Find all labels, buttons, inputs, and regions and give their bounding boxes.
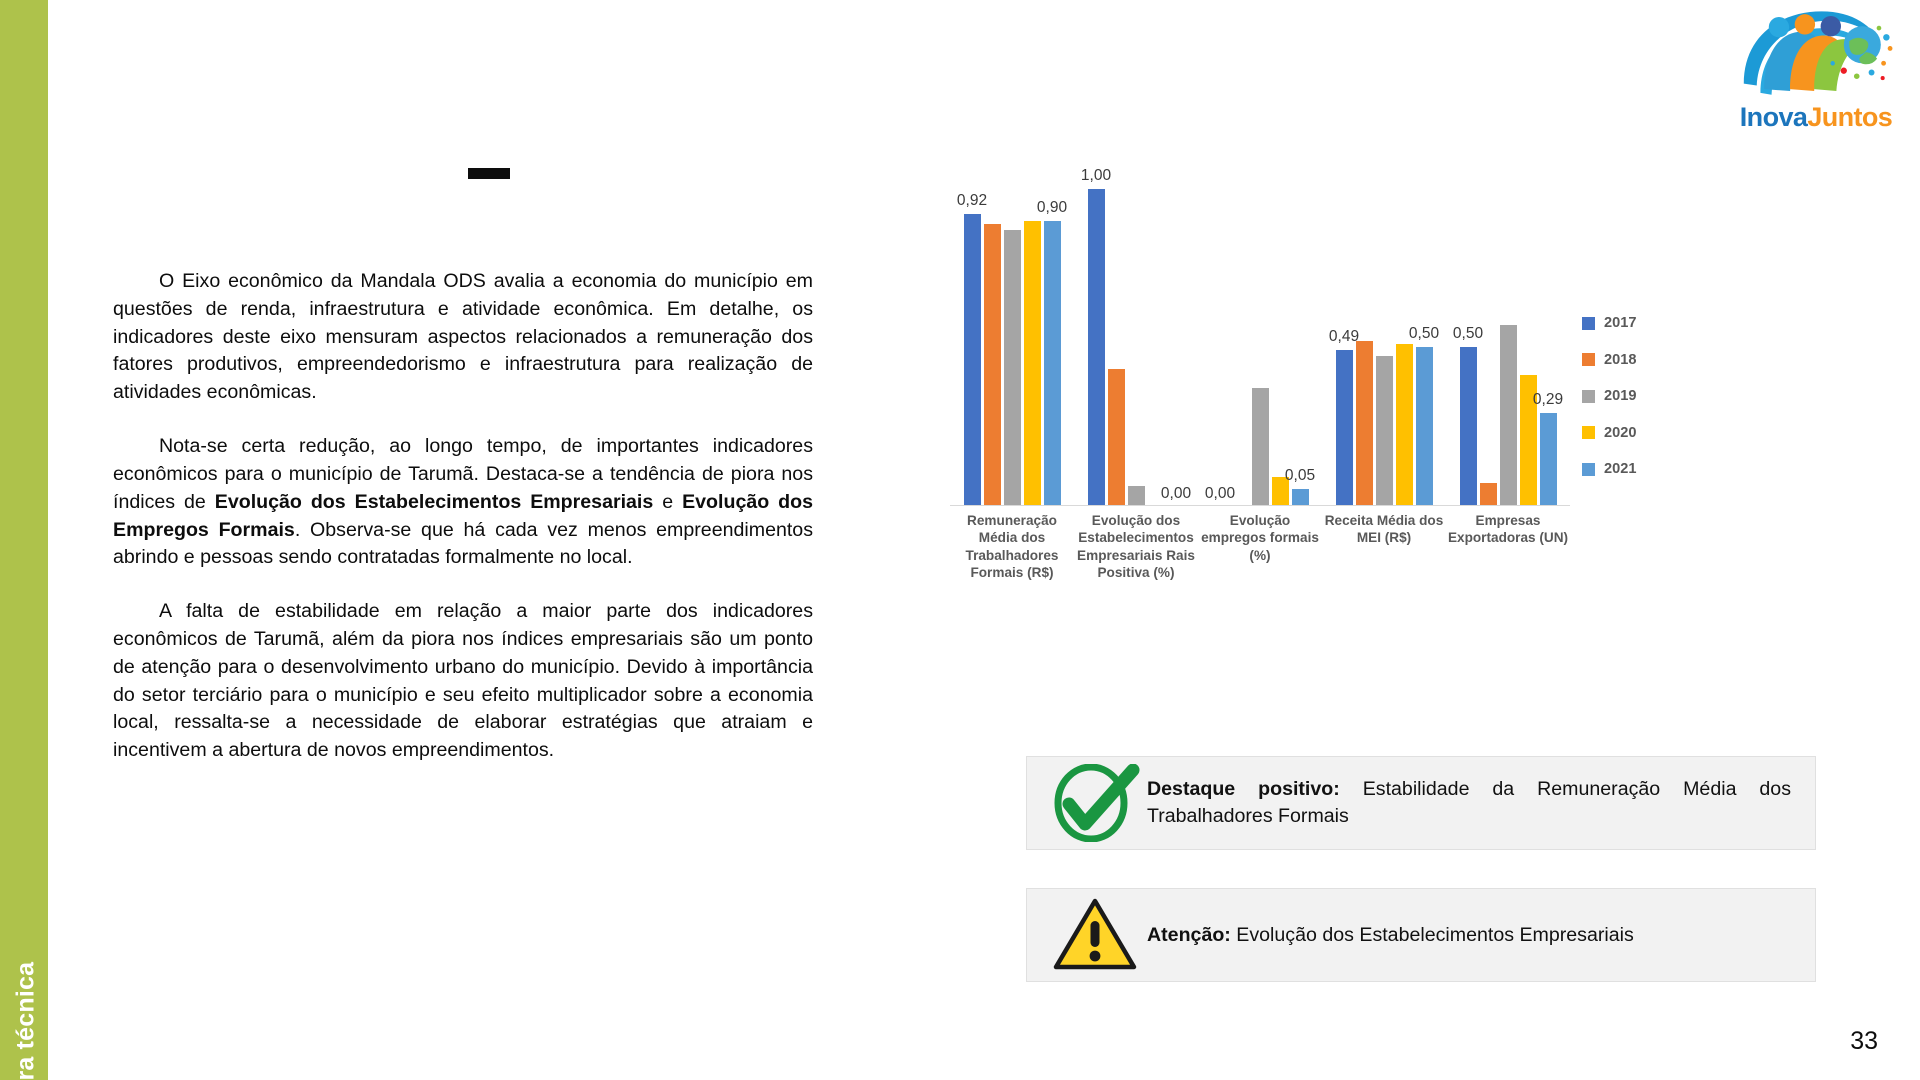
body-paragraph: O Eixo econômico da Mandala ODS avalia a… [113,268,813,407]
callout-positive-title: Destaque positivo: [1147,778,1340,800]
chart-x-axis-labels: Remuneração Média dos Trabalhadores Form… [950,512,1570,612]
green-check-icon [1043,764,1147,842]
chart-legend-item[interactable]: 2019 [1582,388,1636,404]
logo-mark-icon [1732,4,1900,104]
chart-bar [1480,483,1497,505]
chart-legend: 20172018201920202021 [1582,315,1636,498]
chart-data-label: 0,29 [1533,391,1563,409]
callout-positive-text: Destaque positivo: Estabilidade da Remun… [1147,776,1799,829]
chart-bar-group: 1,000,00 [1076,189,1196,505]
chart-data-label: 0,90 [1037,199,1067,217]
body-paragraph: A falta de estabilidade em relação a mai… [113,598,813,765]
callout-warning-title: Atenção: [1147,924,1231,946]
chart-x-label: Empresas Exportadoras (UN) [1446,512,1570,547]
chart-bar [1500,325,1517,505]
chart-bar [1376,356,1393,505]
chart-bar [1252,388,1269,505]
chart-x-label: Evolução dos Estabelecimentos Empresaria… [1074,512,1198,582]
chart-data-label: 0,50 [1409,325,1439,343]
logo-word-inova: Inova [1740,102,1808,132]
sidebar-band: Leitura técnica [0,0,48,1080]
chart-legend-item[interactable]: 2020 [1582,425,1636,441]
chart-data-label: 0,00 [1161,485,1191,503]
body-text: O Eixo econômico da Mandala ODS avalia a… [113,268,813,765]
chart-data-label: 0,00 [1205,485,1235,503]
chart-bar [1024,221,1041,505]
body-paragraph: Nota-se certa redução, ao longo tempo, d… [113,433,813,572]
chart-bar [1004,230,1021,505]
chart-bar [1396,344,1413,505]
chart-data-label: 0,50 [1453,325,1483,343]
chart-legend-item[interactable]: 2021 [1582,461,1636,477]
chart-legend-item[interactable]: 2018 [1582,352,1636,368]
legend-swatch-icon [1582,463,1595,476]
logo-word-juntos: Juntos [1807,102,1892,132]
callout-warning-body: Evolução dos Estabelecimentos Empresaria… [1231,924,1634,946]
chart-x-label: Remuneração Média dos Trabalhadores Form… [950,512,1074,582]
chart-bar: 0,29 [1540,413,1557,505]
body-emphasis: Evolução dos Estabelecimentos Empresaria… [215,491,654,513]
chart-legend-item[interactable]: 2017 [1582,315,1636,331]
chart-bar-group: 0,000,05 [1200,189,1320,505]
chart-x-label: Receita Média dos MEI (R$) [1322,512,1446,547]
callout-positive: Destaque positivo: Estabilidade da Remun… [1026,756,1816,850]
economic-indicators-chart: 0,920,901,000,000,000,050,490,500,500,29… [950,190,1670,610]
legend-label: 2019 [1604,388,1636,404]
chart-bar: 0,49 [1336,350,1353,505]
body-run: A falta de estabilidade em relação a mai… [113,600,813,761]
chart-bar-group: 0,920,90 [952,189,1072,505]
chart-bar-group: 0,500,29 [1448,189,1568,505]
chart-x-label: Evolução empregos formais (%) [1198,512,1322,564]
chart-bar [984,224,1001,505]
slide-page: Leitura técnica InovaJuntos [0,0,1920,1080]
callout-warning: Atenção: Evolução dos Estabelecimentos E… [1026,888,1816,982]
body-run: e [653,491,682,513]
chart-bar: 0,90 [1044,221,1061,505]
chart-bar: 0,50 [1460,347,1477,505]
legend-label: 2018 [1604,352,1636,368]
chart-bar [1128,486,1145,505]
legend-swatch-icon [1582,426,1595,439]
warning-triangle-icon [1043,896,1147,974]
legend-label: 2020 [1604,425,1636,441]
chart-bar: 1,00 [1088,189,1105,505]
logo-wordmark: InovaJuntos [1732,104,1900,131]
chart-bar: 0,05 [1292,489,1309,505]
chart-bar [1108,369,1125,505]
chart-bar: 0,92 [964,214,981,505]
legend-swatch-icon [1582,317,1595,330]
chart-plot-area: 0,920,901,000,000,000,050,490,500,500,29 [950,190,1570,506]
legend-label: 2017 [1604,315,1636,331]
chart-bar: 0,50 [1416,347,1433,505]
body-run: O Eixo econômico da Mandala ODS avalia a… [113,270,813,403]
legend-swatch-icon [1582,353,1595,366]
chart-data-label: 0,05 [1285,467,1315,485]
legend-swatch-icon [1582,390,1595,403]
chart-data-label: 0,92 [957,192,987,210]
chart-bar [1356,341,1373,505]
page-number: 33 [1850,1027,1878,1056]
callout-warning-text: Atenção: Evolução dos Estabelecimentos E… [1147,922,1642,949]
chart-bar-group: 0,490,50 [1324,189,1444,505]
legend-label: 2021 [1604,461,1636,477]
chart-data-label: 1,00 [1081,167,1111,185]
sidebar-label: Leitura técnica [12,922,41,1080]
inovajuntos-logo: InovaJuntos [1732,4,1900,130]
title-dash [468,168,510,179]
